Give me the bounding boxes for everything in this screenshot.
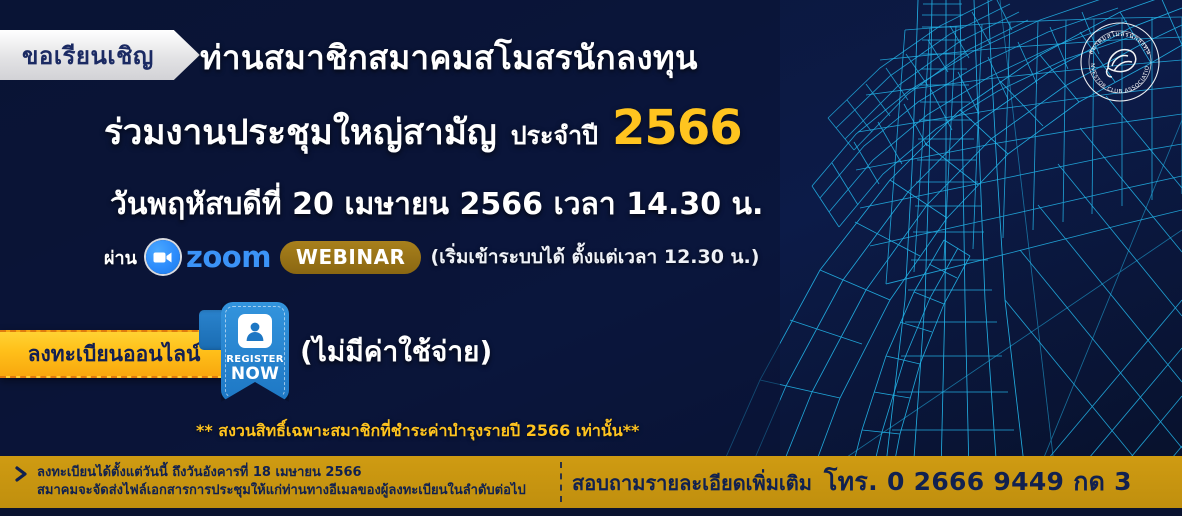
zoom-wordmark: zoom bbox=[186, 243, 271, 272]
zoom-access-note: (เริ่มเข้าระบบได้ ตั้งแต่เวลา 12.30 น.) bbox=[430, 242, 759, 272]
person-glyph bbox=[244, 320, 266, 342]
event-invitation-banner: สมาคมสโมสรนักลงทุน INVESTOR CLUB ASSOCIA… bbox=[0, 0, 1182, 516]
footer-registration-period: ลงทะเบียนได้ตั้งแต่วันนี้ ถึงวันอังคารที… bbox=[37, 464, 526, 482]
chevron-right-glyph bbox=[14, 466, 29, 482]
headline-event: ร่วมงานประชุมใหญ่สามัญ ประจำปี 2566 bbox=[104, 100, 742, 160]
webinar-badge: WEBINAR bbox=[280, 241, 422, 274]
video-camera-icon bbox=[146, 240, 180, 274]
register-now-badge[interactable]: REGISTER NOW bbox=[221, 302, 289, 402]
footer-contact-section: สอบถามรายละเอียดเพิ่มเติม โทร. 0 2666 94… bbox=[572, 462, 1132, 502]
register-badge-line2: NOW bbox=[226, 366, 283, 383]
footer-phone-number: โทร. 0 2666 9449 กด 3 bbox=[824, 462, 1132, 502]
register-online-ribbon[interactable]: ลงทะเบียนออนไลน์ bbox=[0, 330, 228, 378]
footer-left-section: ลงทะเบียนได้ตั้งแต่วันนี้ ถึงวันอังคารที… bbox=[0, 464, 556, 499]
person-icon bbox=[238, 314, 272, 348]
zoom-logo: zoom bbox=[146, 240, 271, 274]
svg-text:สมาคมสโมสรนักลงทุน: สมาคมสโมสรนักลงทุน bbox=[1087, 30, 1154, 56]
invitation-ribbon-label: ขอเรียนเชิญ bbox=[22, 36, 154, 75]
footer-left-lines: ลงทะเบียนได้ตั้งแต่วันนี้ ถึงวันอังคารที… bbox=[37, 464, 526, 499]
free-of-charge-note: (ไม่มีค่าใช้จ่าย) bbox=[300, 330, 492, 374]
headline-audience: ท่านสมาชิกสมาคมสโมสรนักลงทุน bbox=[200, 31, 698, 84]
investor-club-association-logo: สมาคมสโมสรนักลงทุน INVESTOR CLUB ASSOCIA… bbox=[1078, 20, 1162, 104]
zoom-via-label: ผ่าน bbox=[104, 243, 137, 272]
invitation-ribbon: ขอเรียนเชิญ bbox=[0, 30, 200, 80]
headline-datetime: วันพฤหัสบดีที่ 20 เมษายน 2566 เวลา 14.30… bbox=[110, 181, 763, 228]
bottom-strip bbox=[0, 508, 1182, 516]
zoom-webinar-row: ผ่าน zoom WEBINAR (เริ่มเข้าระบบได้ ตั้ง… bbox=[104, 240, 759, 274]
footer-bar: ลงทะเบียนได้ตั้งแต่วันนี้ ถึงวันอังคารที… bbox=[0, 456, 1182, 508]
footer-contact-label: สอบถามรายละเอียดเพิ่มเติม bbox=[572, 467, 812, 499]
logo-thai-text: สมาคมสโมสรนักลงทุน bbox=[1087, 30, 1154, 56]
headline-event-year: 2566 bbox=[612, 100, 742, 156]
membership-restriction-note: ** สงวนสิทธิ์เฉพาะสมาชิกที่ชำระค่าบำรุงร… bbox=[196, 419, 639, 444]
footer-document-delivery-note: สมาคมจะจัดส่งไฟล์เอกสารการประชุมให้แก่ท่… bbox=[37, 482, 526, 500]
footer-divider bbox=[560, 462, 562, 502]
register-online-label: ลงทะเบียนออนไลน์ bbox=[28, 338, 201, 371]
register-badge-text: REGISTER NOW bbox=[226, 355, 283, 383]
headline-event-main: ร่วมงานประชุมใหญ่สามัญ bbox=[104, 105, 497, 160]
chevron-right-icon bbox=[14, 466, 29, 486]
video-camera-glyph bbox=[153, 251, 172, 264]
headline-event-sub: ประจำปี bbox=[511, 116, 598, 156]
